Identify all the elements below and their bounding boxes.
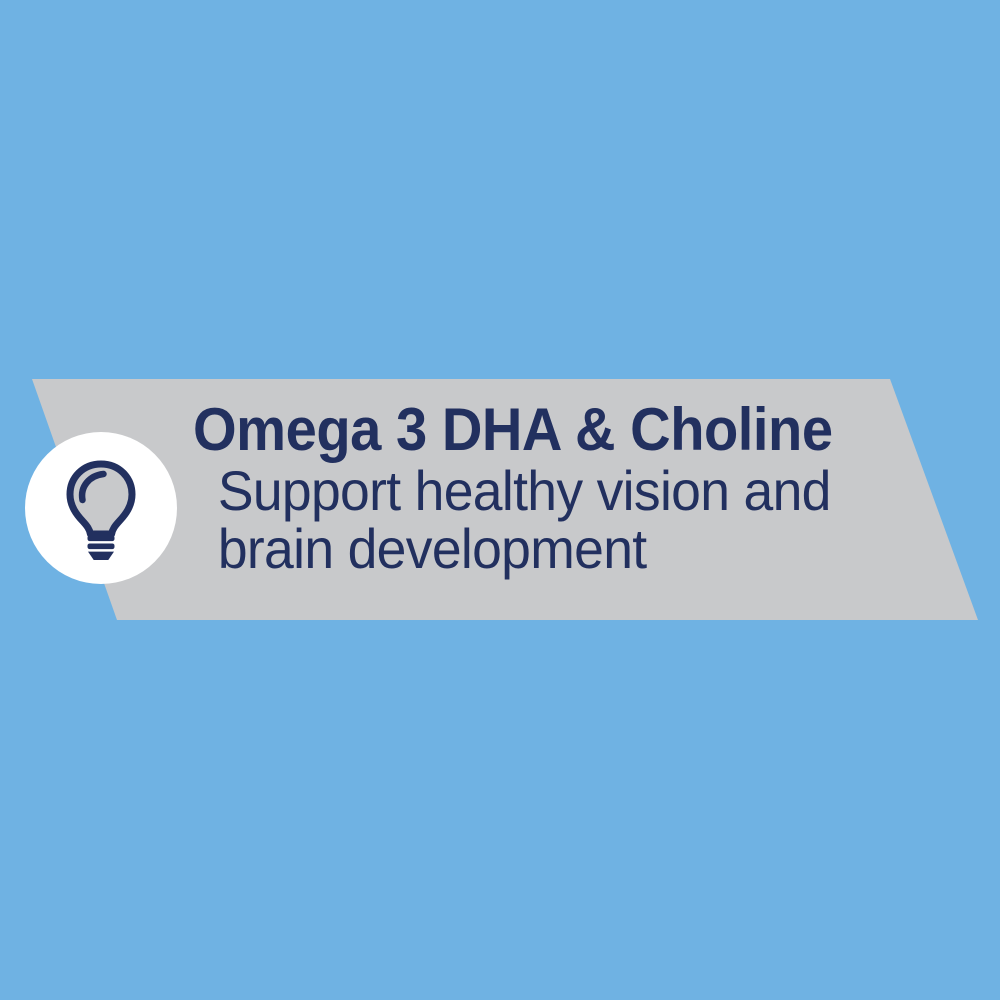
lightbulb-icon <box>49 456 153 560</box>
subhead: Support healthy vision and brain develop… <box>193 462 862 578</box>
subhead-line-2: brain development <box>218 520 862 578</box>
lightbulb-badge <box>25 432 177 584</box>
promo-banner-canvas: Omega 3 DHA & Choline Support healthy vi… <box>0 0 1000 1000</box>
subhead-line-1: Support healthy vision and <box>218 462 862 520</box>
ribbon-text-block: Omega 3 DHA & Choline Support healthy vi… <box>193 398 893 578</box>
headline: Omega 3 DHA & Choline <box>193 398 848 462</box>
